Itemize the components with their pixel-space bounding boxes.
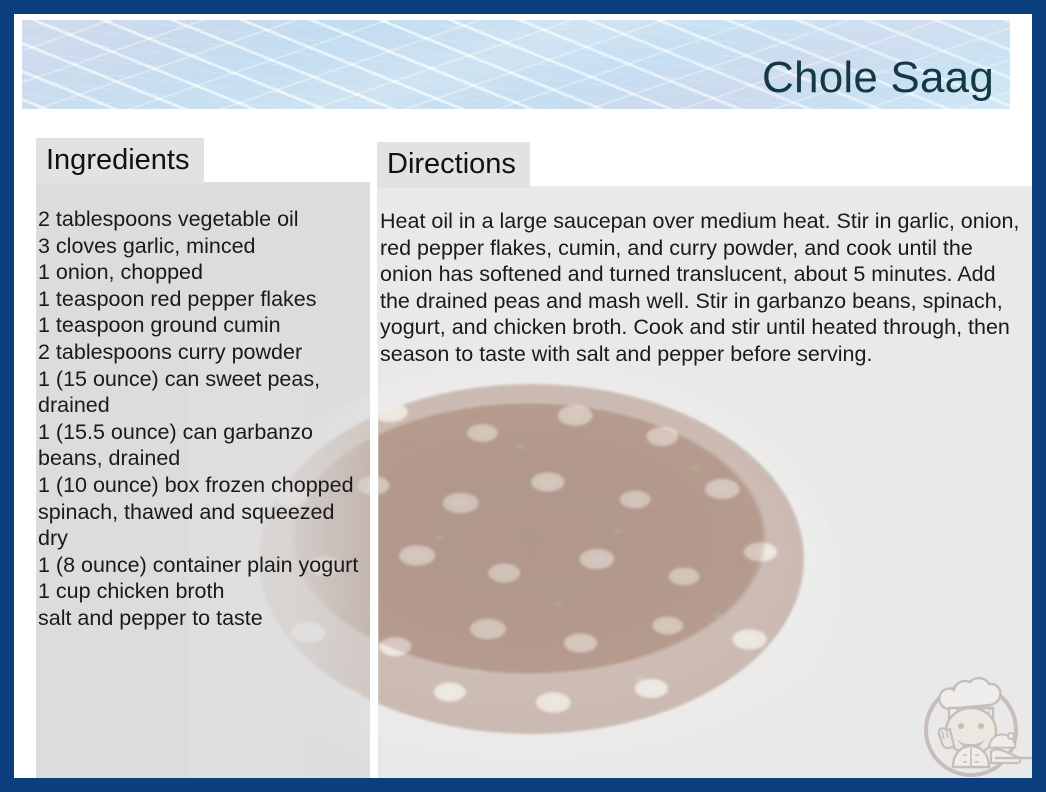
directions-heading: Directions (377, 142, 530, 188)
list-item: 1 cup chicken broth (38, 578, 368, 605)
list-item: 1 (15 ounce) can sweet peas, drained (38, 366, 368, 419)
list-item: 1 onion, chopped (38, 259, 368, 286)
list-item: 1 teaspoon ground cumin (38, 312, 368, 339)
chef-mascot-logo (907, 655, 1035, 784)
recipe-card: Chole Saag Ingredients Directions 2 tabl… (0, 0, 1046, 792)
ingredients-list: 2 tablespoons vegetable oil 3 cloves gar… (38, 206, 368, 632)
page-title: Chole Saag (762, 55, 994, 101)
list-item: 1 teaspoon red pepper flakes (38, 286, 368, 313)
list-item: 2 tablespoons vegetable oil (38, 206, 368, 233)
title-banner: Chole Saag (22, 20, 1010, 109)
list-item: 1 (10 ounce) box frozen chopped spinach,… (38, 472, 368, 552)
directions-body: Heat oil in a large saucepan over medium… (380, 208, 1025, 368)
list-item: 2 tablespoons curry powder (38, 339, 368, 366)
list-item: salt and pepper to taste (38, 605, 368, 632)
list-item: 1 (8 ounce) container plain yogurt (38, 552, 368, 579)
ingredients-heading: Ingredients (36, 138, 204, 184)
list-item: 1 (15.5 ounce) can garbanzo beans, drain… (38, 419, 368, 472)
column-divider (370, 138, 377, 784)
list-item: 3 cloves garlic, minced (38, 233, 368, 260)
